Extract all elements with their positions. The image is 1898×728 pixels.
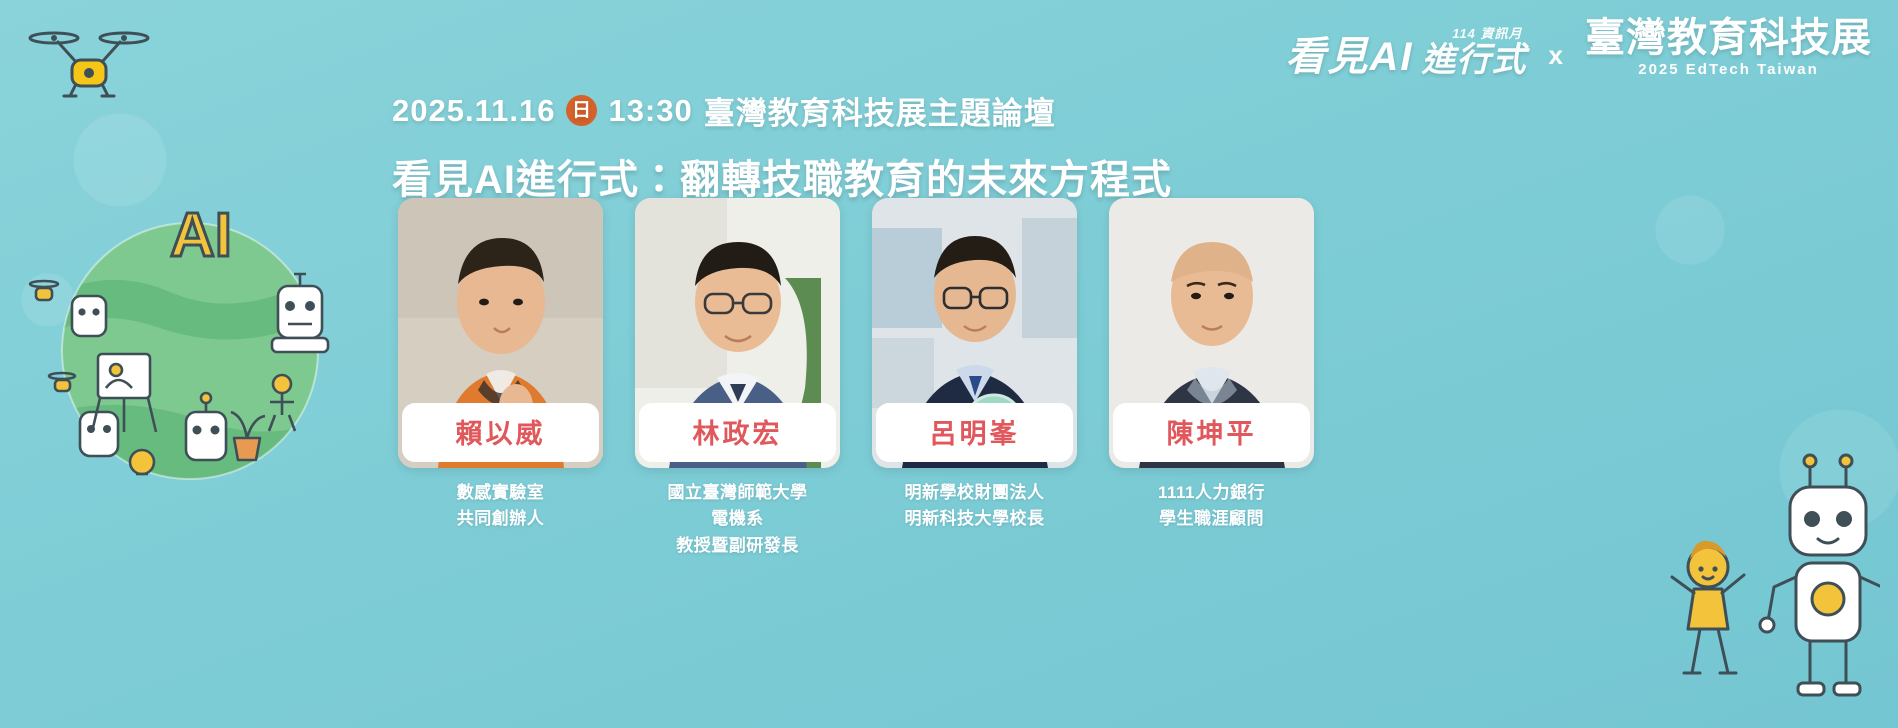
speaker-photo-lin-cheng-hung: 林政宏	[635, 198, 840, 468]
brand-cross-symbol: x	[1545, 40, 1567, 77]
affiliation-line: 明新科技大學校長	[872, 506, 1077, 532]
ai-globe-illustration: AI	[20, 176, 360, 501]
speaker-affiliation: 明新學校財團法人 明新科技大學校長	[872, 480, 1077, 533]
speaker-name: 賴以威	[402, 403, 599, 462]
speaker-photo-lu-ming-feng: 呂明峯	[872, 198, 1077, 468]
program-name-part2: 進行式	[1422, 43, 1527, 77]
drone-icon	[24, 22, 154, 107]
affiliation-line: 明新學校財團法人	[872, 480, 1077, 506]
program-superscript: 114 資訊月	[1452, 23, 1522, 42]
weekday-chip: 日	[566, 95, 597, 126]
event-time: 13:30	[608, 93, 692, 129]
affiliation-line: 電機系	[635, 506, 840, 532]
speaker-name: 林政宏	[639, 403, 836, 462]
speaker-photo-chen-kun-ping: 陳坤平	[1109, 198, 1314, 468]
speaker-card: 呂明峯 明新學校財團法人 明新科技大學校長	[872, 198, 1077, 559]
event-date: 2025.11.16	[392, 93, 555, 129]
speaker-affiliation: 國立臺灣師範大學 電機系 教授暨副研發長	[635, 480, 840, 559]
affiliation-line: 學生職涯顧問	[1109, 506, 1314, 532]
event-subtitle: 臺灣教育科技展主題論壇	[704, 88, 1056, 133]
event-banner: AI	[0, 0, 1898, 728]
affiliation-line: 教授暨副研發長	[635, 533, 840, 559]
expo-logo: 臺灣教育科技展 2025 EdTech Taiwan	[1585, 18, 1872, 77]
headline-block: 2025.11.16 日 13:30 臺灣教育科技展主題論壇 看見AI進行式：翻…	[392, 88, 1392, 205]
speaker-affiliation: 數感實驗室 共同創辦人	[398, 480, 603, 533]
speaker-affiliation: 1111人力銀行 學生職涯顧問	[1109, 480, 1314, 533]
speaker-card: 林政宏 國立臺灣師範大學 電機系 教授暨副研發長	[635, 198, 840, 559]
speaker-card: 陳坤平 1111人力銀行 學生職涯顧問	[1109, 198, 1314, 559]
affiliation-line: 數感實驗室	[398, 480, 603, 506]
speaker-name: 呂明峯	[876, 403, 1073, 462]
affiliation-line: 1111人力銀行	[1109, 480, 1314, 506]
page-title: 看見AI進行式：翻轉技職教育的未來方程式	[392, 147, 1392, 205]
brand-lockup: 看見AI 進行式 114 資訊月 x 臺灣教育科技展 2025 EdTech T…	[1286, 18, 1872, 77]
program-name-part1: 看見AI	[1286, 37, 1414, 77]
speaker-photo-lai-yi-wei: 賴以威	[398, 198, 603, 468]
svg-text:AI: AI	[170, 201, 232, 270]
affiliation-line: 國立臺灣師範大學	[635, 480, 840, 506]
speaker-name: 陳坤平	[1113, 403, 1310, 462]
program-logo: 看見AI 進行式 114 資訊月	[1286, 37, 1527, 77]
affiliation-line: 共同創辦人	[398, 506, 603, 532]
speaker-list: 賴以威 數感實驗室 共同創辦人	[398, 198, 1314, 559]
event-meta-line: 2025.11.16 日 13:30 臺灣教育科技展主題論壇	[392, 88, 1392, 133]
speaker-card: 賴以威 數感實驗室 共同創辦人	[398, 198, 603, 559]
expo-name-en: 2025 EdTech Taiwan	[1585, 62, 1872, 77]
expo-name: 臺灣教育科技展	[1585, 18, 1872, 58]
robot-and-girl-illustration	[1660, 417, 1880, 722]
